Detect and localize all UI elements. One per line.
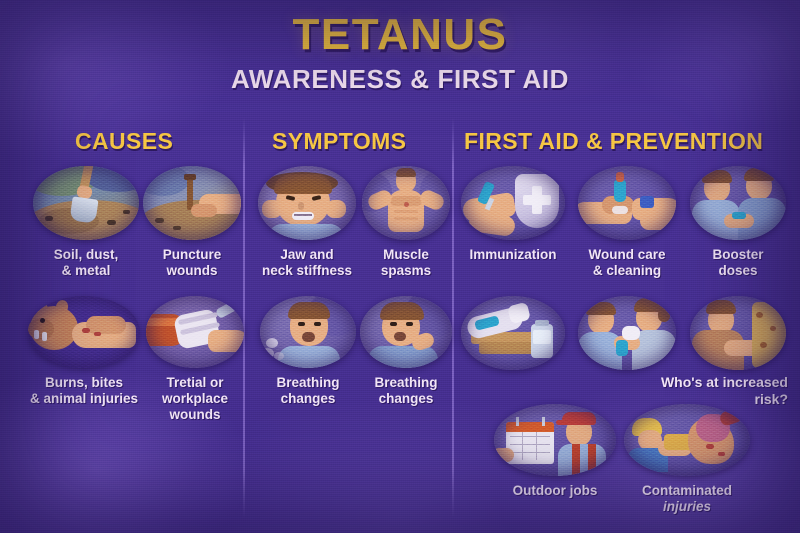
caption-line-1: Contaminated [642,483,732,498]
contaminated-wound-icon [624,404,750,476]
poster-canvas: TETANUS AWARENESS & FIRST AID CAUSES SYM… [0,0,800,533]
card-caption: Immunization [461,247,565,263]
wound-dressing-supplies-icon [461,296,565,370]
card-tretial-workplace-wounds[interactable]: Tretial or workplace wounds [146,296,244,423]
column-divider-2 [452,118,454,518]
caption-line-1: Booster [712,247,763,262]
breathing-difficulty-icon [360,296,452,368]
shovel-in-soil-icon [33,166,139,240]
card-caption: Muscle spasms [362,247,450,279]
caption-line-2: & metal [62,263,111,278]
caption-line-2: & animal injuries [30,391,138,406]
caption-line-2: workplace [162,391,228,406]
risk-question-line-2: risk? [755,391,788,407]
card-booster-doses[interactable]: Booster doses [690,166,786,279]
animal-bite-icon [28,296,140,368]
card-caption: Burns, bites & animal injuries [28,375,140,407]
card-first-aid-helper[interactable] [578,296,676,370]
caption-line-2: changes [379,391,434,406]
caption-line-3: wounds [170,407,221,422]
card-caption: Tretial or workplace wounds [146,375,244,423]
caption-line-1: Muscle [383,247,429,262]
nail-puncture-icon [143,166,241,240]
section-heading-symptoms: SYMPTOMS [272,128,406,155]
card-caption: Jaw and neck stiffness [258,247,356,279]
bandaged-limb-icon [146,296,244,368]
card-caption: Outdoor jobs [494,483,616,499]
section-heading-first-aid: FIRST AID & PREVENTION [464,128,763,155]
caption-line-1: Wound care [588,247,665,262]
jaw-stiffness-icon [258,166,356,240]
card-immunization[interactable]: Immunization [461,166,565,263]
caption-line-1: Puncture [163,247,222,262]
card-burns-bites-animal-injuries[interactable]: Burns, bites & animal injuries [28,296,140,407]
card-wound-care-cleaning[interactable]: Wound care & cleaning [578,166,676,279]
caption-line-2: & cleaning [593,263,661,278]
card-caption: Wound care & cleaning [578,247,676,279]
card-puncture-wounds[interactable]: Puncture wounds [143,166,241,279]
card-caption: Soil, dust, & metal [33,247,139,279]
section-heading-causes: CAUSES [75,128,173,155]
caption-line-1: Jaw and [280,247,333,262]
first-aid-helper-icon [578,296,676,370]
caption-line-2: spasms [381,263,431,278]
caption-line-2: neck stiffness [262,263,352,278]
caption-line-1: Burns, bites [45,375,123,390]
vaccine-shield-icon [461,166,565,240]
caption-line-1: Breathing [374,375,437,390]
card-muscle-spasms[interactable]: Muscle spasms [362,166,450,279]
card-breathing-changes-2[interactable]: Breathing changes [360,296,452,407]
card-wound-dressing-supplies[interactable] [461,296,565,370]
card-caption: Contaminated injuries [624,483,750,515]
card-caption: Breathing changes [260,375,356,407]
page-title: TETANUS [0,10,800,60]
card-soil-dust-metal[interactable]: Soil, dust, & metal [33,166,139,279]
risk-question: Who's at increased risk? [640,374,788,408]
outdoor-worker-calendar-icon [494,404,616,476]
muscle-spasm-icon [362,166,450,240]
booster-dose-icon [690,166,786,240]
card-rusty-surface-injury[interactable] [690,296,786,370]
caption-line-2: wounds [167,263,218,278]
caption-line-2: injuries [663,499,711,514]
card-outdoor-jobs[interactable]: Outdoor jobs [494,404,616,499]
caption-line-2: doses [718,263,757,278]
page-subtitle: AWARENESS & FIRST AID [0,64,800,95]
caption-line-2: changes [281,391,336,406]
risk-question-line-1: Who's at increased [661,374,788,390]
card-caption: Breathing changes [360,375,452,407]
card-contaminated-injuries[interactable]: Contaminated injuries [624,404,750,515]
wound-cleaning-icon [578,166,676,240]
caption-line-1: Soil, dust, [54,247,119,262]
card-breathing-changes-1[interactable]: Breathing changes [260,296,356,407]
card-caption: Booster doses [690,247,786,279]
card-caption: Puncture wounds [143,247,241,279]
caption-line-1: Outdoor jobs [513,483,598,498]
caption-line-1: Immunization [470,247,557,262]
breathing-difficulty-icon [260,296,356,368]
card-jaw-neck-stiffness[interactable]: Jaw and neck stiffness [258,166,356,279]
rusty-surface-injury-icon [690,296,786,370]
caption-line-1: Tretial or [166,375,223,390]
caption-line-1: Breathing [276,375,339,390]
